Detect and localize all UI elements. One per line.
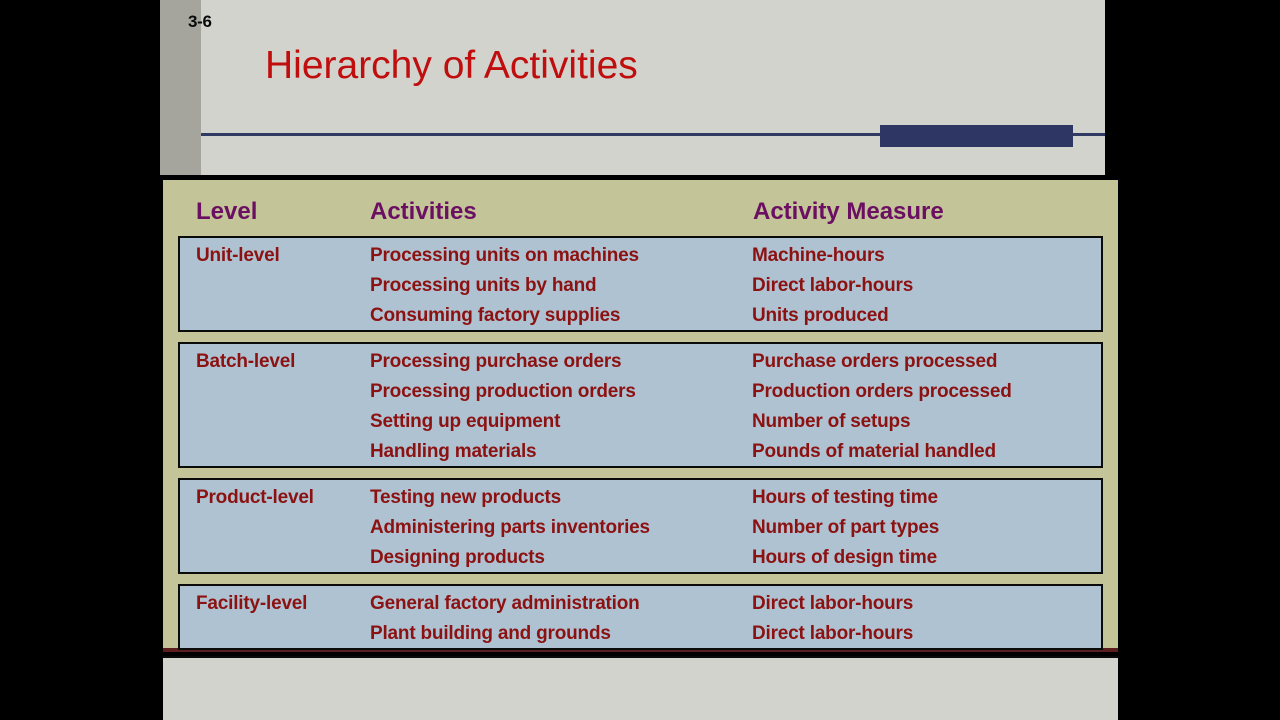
table-row: Testing new products Hours of testing ti… (370, 487, 1101, 517)
row-measure: Purchase orders processed (752, 351, 997, 373)
row-activity: Designing products (370, 547, 545, 569)
header-accent-block (880, 125, 1073, 147)
row-measure: Production orders processed (752, 381, 1012, 403)
row-activity: Processing purchase orders (370, 351, 621, 373)
row-measure: Direct labor-hours (752, 593, 913, 615)
row-activity: Plant building and grounds (370, 623, 611, 645)
row-activity: Administering parts inventories (370, 517, 650, 539)
table-row: Processing production orders Production … (370, 381, 1101, 411)
group-rows: General factory administration Direct la… (370, 593, 1101, 653)
group-level-label: Product-level (196, 487, 314, 509)
table-row: Administering parts inventories Number o… (370, 517, 1101, 547)
table-group-batch-level: Batch-level Processing purchase orders P… (178, 342, 1103, 468)
row-measure: Number of setups (752, 411, 910, 433)
group-rows: Processing purchase orders Purchase orde… (370, 351, 1101, 471)
row-activity: General factory administration (370, 593, 640, 615)
row-measure: Hours of design time (752, 547, 937, 569)
table-row: Handling materials Pounds of material ha… (370, 441, 1101, 471)
row-activity: Processing production orders (370, 381, 636, 403)
presentation-slide: 3-6 Hierarchy of Activities Level Activi… (160, 0, 1120, 720)
activity-hierarchy-panel: Level Activities Activity Measure Unit-l… (163, 180, 1118, 652)
group-level-label: Facility-level (196, 593, 307, 615)
group-rows: Processing units on machines Machine-hou… (370, 245, 1101, 335)
row-activity: Processing units by hand (370, 275, 596, 297)
group-level-label: Unit-level (196, 245, 280, 267)
row-measure: Hours of testing time (752, 487, 938, 509)
row-activity: Processing units on machines (370, 245, 639, 267)
table-row: Consuming factory supplies Units produce… (370, 305, 1101, 335)
table-group-product-level: Product-level Testing new products Hours… (178, 478, 1103, 574)
group-rows: Testing new products Hours of testing ti… (370, 487, 1101, 577)
table-row: Setting up equipment Number of setups (370, 411, 1101, 441)
row-measure: Machine-hours (752, 245, 885, 267)
slide-footer-area (163, 656, 1118, 720)
row-measure: Direct labor-hours (752, 275, 913, 297)
row-measure: Pounds of material handled (752, 441, 996, 463)
table-row: General factory administration Direct la… (370, 593, 1101, 623)
table-row: Processing units on machines Machine-hou… (370, 245, 1101, 275)
row-activity: Consuming factory supplies (370, 305, 620, 327)
table-row: Processing units by hand Direct labor-ho… (370, 275, 1101, 305)
table-row: Processing purchase orders Purchase orde… (370, 351, 1101, 381)
row-activity: Testing new products (370, 487, 561, 509)
row-activity: Setting up equipment (370, 411, 560, 433)
page-title: Hierarchy of Activities (265, 44, 638, 88)
column-header-level: Level (196, 198, 257, 226)
row-measure: Number of part types (752, 517, 939, 539)
row-measure: Units produced (752, 305, 889, 327)
table-group-facility-level: Facility-level General factory administr… (178, 584, 1103, 650)
slide-header: 3-6 Hierarchy of Activities (160, 0, 1105, 175)
row-activity: Handling materials (370, 441, 536, 463)
row-measure: Direct labor-hours (752, 623, 913, 645)
column-header-activity-measure: Activity Measure (753, 198, 944, 226)
table-group-unit-level: Unit-level Processing units on machines … (178, 236, 1103, 332)
column-header-activities: Activities (370, 198, 477, 226)
slide-number: 3-6 (188, 12, 212, 32)
group-level-label: Batch-level (196, 351, 295, 373)
table-row: Plant building and grounds Direct labor-… (370, 623, 1101, 653)
table-row: Designing products Hours of design time (370, 547, 1101, 577)
